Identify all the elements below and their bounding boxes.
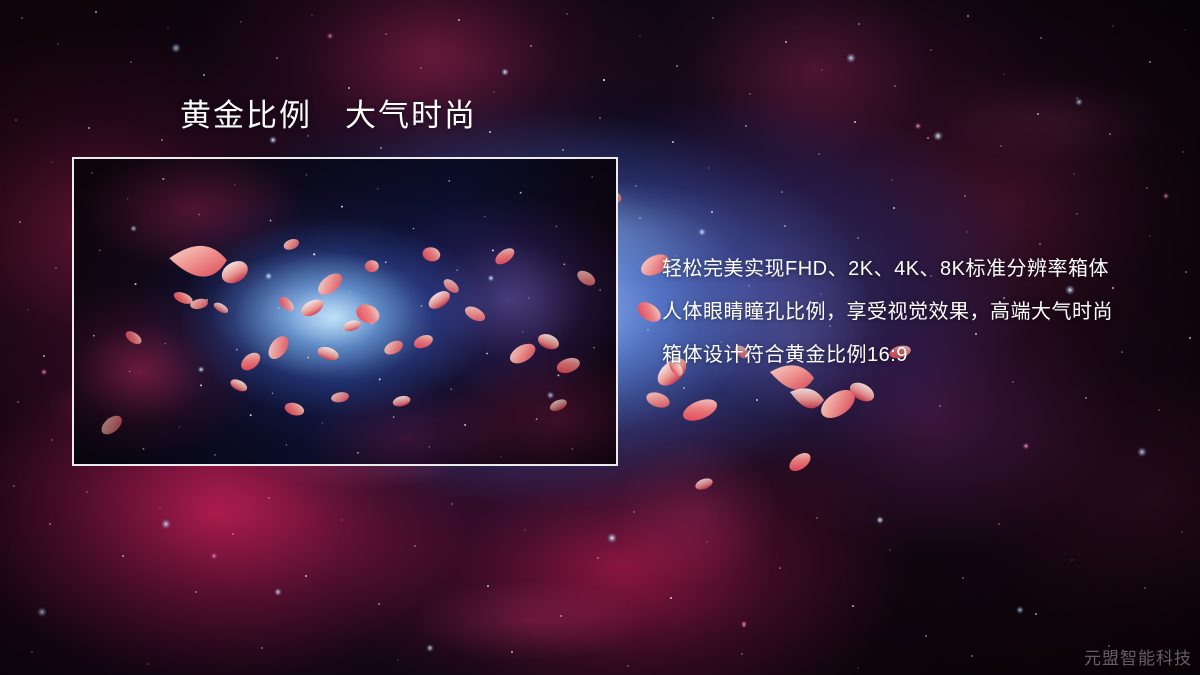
body-line-1: 轻松完美实现FHD、2K、4K、8K标准分辨率箱体 — [662, 248, 1162, 291]
watermark: 元盟智能科技 — [1084, 644, 1192, 669]
page-title: 黄金比例 大气时尚 — [180, 100, 477, 131]
framed-image-vignette — [74, 159, 616, 464]
body-line-3: 箱体设计符合黄金比例16:9 — [662, 334, 1162, 377]
body-line-2: 人体眼睛瞳孔比例，享受视觉效果，高端大气时尚 — [662, 291, 1162, 334]
body-text-block: 轻松完美实现FHD、2K、4K、8K标准分辨率箱体 人体眼睛瞳孔比例，享受视觉效… — [662, 248, 1162, 377]
framed-image[interactable] — [72, 157, 618, 466]
presentation-slide: 黄金比例 大气时尚 轻松完美实现FHD、2K、4K、8K标准分辨率箱体 人体眼睛… — [0, 0, 1200, 675]
